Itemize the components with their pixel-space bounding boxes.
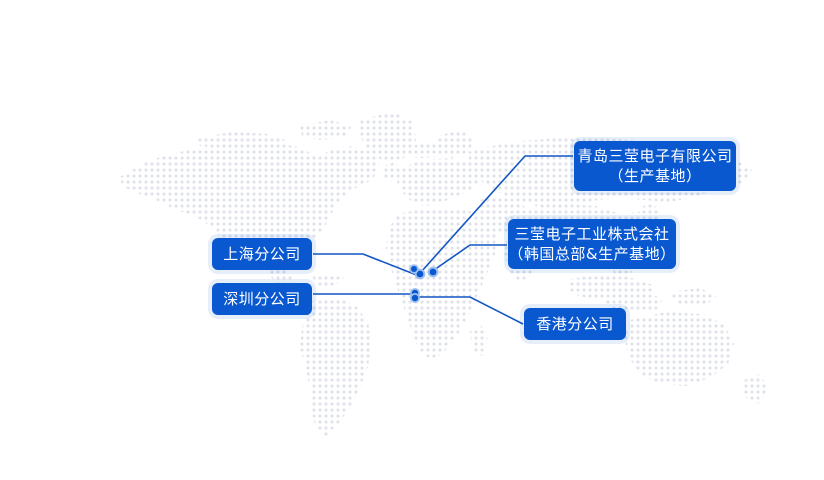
connector-lines xyxy=(0,0,824,480)
connector-line-shanghai xyxy=(313,254,419,276)
map-label-qingdao-line1: 青岛三莹电子有限公司 xyxy=(578,146,733,166)
map-label-hongkong-line1: 香港分公司 xyxy=(536,314,614,334)
map-label-qingdao-line2: （生产基地） xyxy=(608,166,701,186)
map-label-korea[interactable]: 三莹电子工业株式会社 （韩国总部&生产基地） xyxy=(508,219,676,269)
world-dot-map xyxy=(0,0,824,480)
node-marker-korea[interactable] xyxy=(428,267,439,278)
map-label-hongkong[interactable]: 香港分公司 xyxy=(524,308,626,340)
world-map-panel: 青岛三莹电子有限公司 （生产基地） 三莹电子工业株式会社 （韩国总部&生产基地）… xyxy=(0,0,824,480)
map-label-korea-line1: 三莹电子工业株式会社 xyxy=(515,224,670,244)
map-label-shanghai-line1: 上海分公司 xyxy=(223,244,301,264)
map-label-shanghai[interactable]: 上海分公司 xyxy=(212,238,312,270)
map-label-korea-line2: （韩国总部&生产基地） xyxy=(508,244,675,264)
node-marker-qingdao[interactable] xyxy=(415,269,426,280)
node-marker-shanghai[interactable] xyxy=(409,264,419,274)
map-label-shenzhen[interactable]: 深圳分公司 xyxy=(212,283,312,315)
node-marker-hongkong[interactable] xyxy=(410,293,420,303)
map-label-shenzhen-line1: 深圳分公司 xyxy=(223,289,301,309)
node-marker-shenzhen[interactable] xyxy=(410,288,420,298)
connector-line-korea xyxy=(434,245,507,270)
connector-line-hongkong xyxy=(416,297,523,324)
map-label-qingdao[interactable]: 青岛三莹电子有限公司 （生产基地） xyxy=(574,141,736,191)
